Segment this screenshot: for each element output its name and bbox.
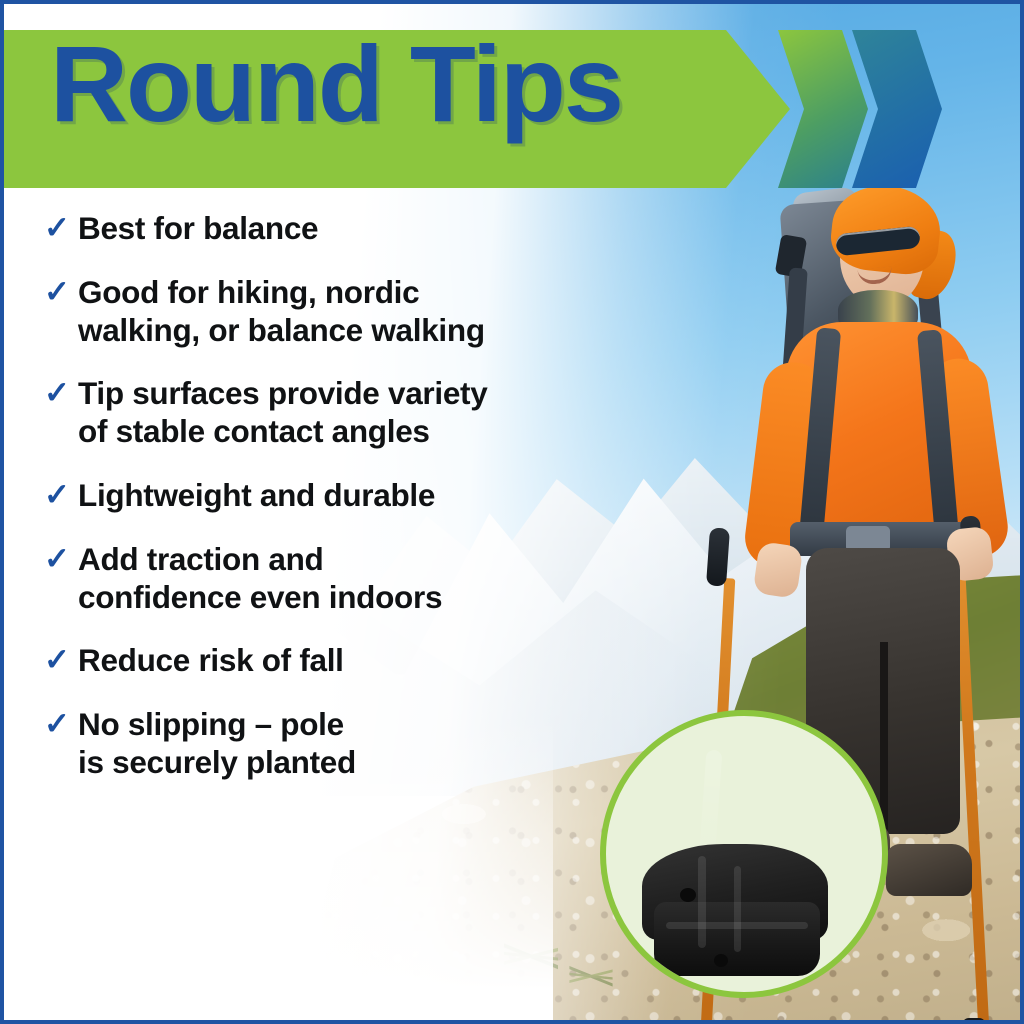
list-item: ✓ No slipping – pole is securely planted — [44, 706, 684, 782]
pole-tip-groove — [666, 922, 808, 929]
infographic-card: Round Tips ✓ Best for balance ✓ Good for… — [0, 0, 1024, 1024]
list-item: ✓ Lightweight and durable — [44, 477, 684, 515]
check-icon: ✓ — [44, 477, 78, 514]
list-item-label: Good for hiking, nordic walking, or bala… — [78, 274, 485, 350]
pole-rubber-tip-right — [962, 1018, 986, 1024]
list-item: ✓ Best for balance — [44, 210, 684, 248]
list-item-label: Add traction and confidence even indoors — [78, 541, 442, 617]
check-icon: ✓ — [44, 274, 78, 311]
pole-grip-left — [706, 527, 730, 586]
pants-leg-gap — [880, 642, 888, 838]
list-item-label: Best for balance — [78, 210, 318, 248]
list-item: ✓ Add traction and confidence even indoo… — [44, 541, 684, 617]
pole-tip-hole — [714, 954, 728, 967]
list-item-label: Lightweight and durable — [78, 477, 435, 515]
list-item: ✓ Reduce risk of fall — [44, 642, 684, 680]
check-icon: ✓ — [44, 210, 78, 247]
list-item-label: Tip surfaces provide variety of stable c… — [78, 375, 487, 451]
list-item: ✓ Good for hiking, nordic walking, or ba… — [44, 274, 684, 350]
boot-right — [886, 844, 972, 896]
product-inset-circle — [600, 710, 888, 998]
page-title: Round Tips — [50, 30, 622, 138]
check-icon: ✓ — [44, 706, 78, 743]
pole-tip-hole — [680, 888, 696, 902]
list-item-label: No slipping – pole is securely planted — [78, 706, 356, 782]
check-icon: ✓ — [44, 642, 78, 679]
feature-list: ✓ Best for balance ✓ Good for hiking, no… — [44, 210, 684, 808]
check-icon: ✓ — [44, 541, 78, 578]
pole-tip-groove — [698, 856, 706, 948]
list-item-label: Reduce risk of fall — [78, 642, 344, 680]
pole-tip-groove — [734, 866, 741, 952]
list-item: ✓ Tip surfaces provide variety of stable… — [44, 375, 684, 451]
check-icon: ✓ — [44, 375, 78, 412]
hand-left — [753, 541, 804, 599]
